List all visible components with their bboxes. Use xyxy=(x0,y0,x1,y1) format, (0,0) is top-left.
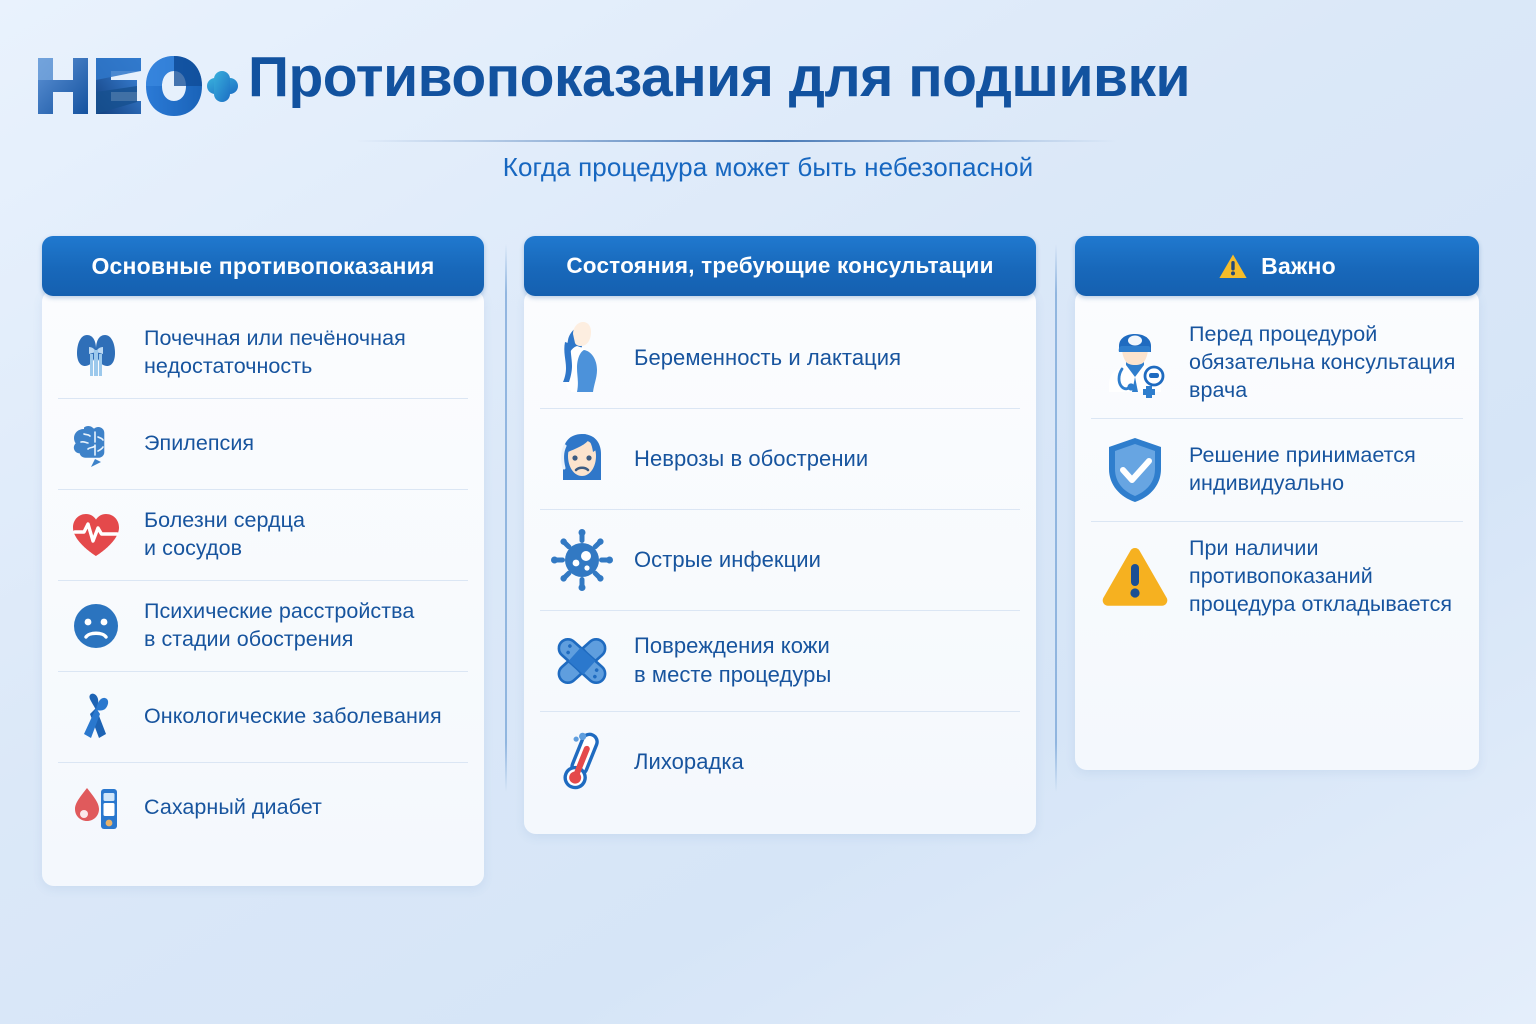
list-item-label: Неврозы в обострении xyxy=(634,445,868,474)
list-item[interactable]: Онкологические заболевания xyxy=(58,671,468,762)
column-body-main: Почечная или печёночная недостаточность xyxy=(42,290,484,886)
list-item-label: Почечная или печёночная недостаточность xyxy=(144,325,406,381)
list-item-label: Беременность и лактация xyxy=(634,344,901,373)
column-header-consultation: Состояния, требующие консультации xyxy=(524,236,1036,296)
column-consultation-needed: Состояния, требующие консультации Береме… xyxy=(524,236,1036,834)
list-item-label: При наличии противопоказаний процедура о… xyxy=(1189,535,1452,619)
pregnant-woman-icon xyxy=(546,321,618,395)
page-subtitle: Когда процедура может быть небезопасной xyxy=(0,152,1536,183)
column-divider-1 xyxy=(505,244,507,792)
shield-check-icon xyxy=(1097,432,1173,508)
list-item[interactable]: Лихорадка xyxy=(540,711,1020,812)
column-important: Важно xyxy=(1075,236,1479,770)
doctor-icon xyxy=(1097,325,1173,401)
list-item[interactable]: Перед процедурой обязательна консультаци… xyxy=(1091,308,1463,418)
list-item[interactable]: Болезни сердца и сосудов xyxy=(58,489,468,580)
list-item[interactable]: При наличии противопоказаний процедура о… xyxy=(1091,521,1463,632)
page-header: Противопоказания для подшивки Когда проц… xyxy=(0,0,1536,212)
virus-icon xyxy=(546,523,618,597)
list-item[interactable]: Решение принимается индивидуально xyxy=(1091,418,1463,521)
list-item[interactable]: Повреждения кожи в месте процедуры xyxy=(540,610,1020,711)
warning-triangle-icon xyxy=(1097,539,1173,615)
bandages-icon xyxy=(546,624,618,698)
list-item[interactable]: Острые инфекции xyxy=(540,509,1020,610)
column-header-important: Важно xyxy=(1075,236,1479,296)
brand-logo xyxy=(34,52,239,120)
column-body-consultation: Беременность и лактация xyxy=(524,290,1036,834)
list-item[interactable]: Эпилепсия xyxy=(58,398,468,489)
list-item[interactable]: Психические расстройства в стадии обостр… xyxy=(58,580,468,671)
thermometer-icon xyxy=(546,725,618,799)
list-item[interactable]: Почечная или печёночная недостаточность xyxy=(58,308,468,398)
column-header-label: Основные противопоказания xyxy=(91,253,434,280)
list-item-label: Лихорадка xyxy=(634,748,744,777)
column-header-label: Важно xyxy=(1261,253,1336,280)
list-item-label: Эпилепсия xyxy=(144,430,254,458)
columns-board: Основные противопоказания Почечн xyxy=(0,236,1536,896)
kidneys-icon xyxy=(64,321,128,385)
list-item-label: Решение принимается индивидуально xyxy=(1189,442,1416,498)
list-item[interactable]: Беременность и лактация xyxy=(540,308,1020,408)
list-item-label: Повреждения кожи в месте процедуры xyxy=(634,632,831,689)
list-item-label: Перед процедурой обязательна консультаци… xyxy=(1189,321,1456,405)
list-item-label: Острые инфекции xyxy=(634,546,821,575)
list-item[interactable]: Сахарный диабет xyxy=(58,762,468,853)
page-title: Противопоказания для подшивки xyxy=(248,44,1190,110)
blood-drop-glucometer-icon xyxy=(64,776,128,840)
brain-icon xyxy=(64,412,128,476)
neo-plus-logo-icon xyxy=(34,52,239,120)
awareness-ribbon-icon xyxy=(64,685,128,749)
sad-face-icon xyxy=(64,594,128,658)
title-divider xyxy=(356,140,1118,142)
warning-triangle-icon xyxy=(1218,253,1248,280)
list-item-label: Психические расстройства в стадии обостр… xyxy=(144,598,414,654)
column-header-main: Основные противопоказания xyxy=(42,236,484,296)
column-main-contraindications: Основные противопоказания Почечн xyxy=(42,236,484,886)
list-item[interactable]: Неврозы в обострении xyxy=(540,408,1020,509)
list-item-label: Болезни сердца и сосудов xyxy=(144,507,305,563)
list-item-label: Сахарный диабет xyxy=(144,794,322,822)
anxious-woman-icon xyxy=(546,422,618,496)
column-header-label: Состояния, требующие консультации xyxy=(566,253,993,279)
column-body-important: Перед процедурой обязательна консультаци… xyxy=(1075,290,1479,770)
column-divider-2 xyxy=(1055,244,1057,792)
list-item-label: Онкологические заболевания xyxy=(144,703,442,731)
heart-pulse-icon xyxy=(64,503,128,567)
